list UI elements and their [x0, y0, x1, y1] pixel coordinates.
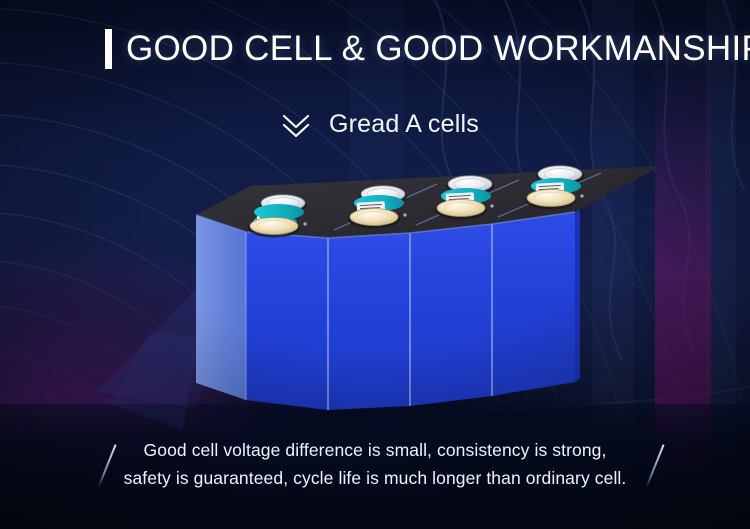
product-banner: GOOD CELL & GOOD WORKMANSHIP Gread A cel… [0, 0, 750, 529]
double-chevron-down-icon [279, 107, 313, 141]
title-accent-bar [105, 29, 112, 69]
caption-block: Good cell voltage difference is small, c… [0, 436, 750, 492]
page-title: GOOD CELL & GOOD WORKMANSHIP [105, 29, 750, 69]
title-text: GOOD CELL & GOOD WORKMANSHIP [126, 29, 750, 69]
subtitle-row: Gread A cells [279, 107, 479, 141]
caption-line-2: safety is guaranteed, cycle life is much… [0, 464, 750, 492]
subtitle-text: Gread A cells [329, 110, 479, 139]
caption-line-1: Good cell voltage difference is small, c… [0, 436, 750, 464]
